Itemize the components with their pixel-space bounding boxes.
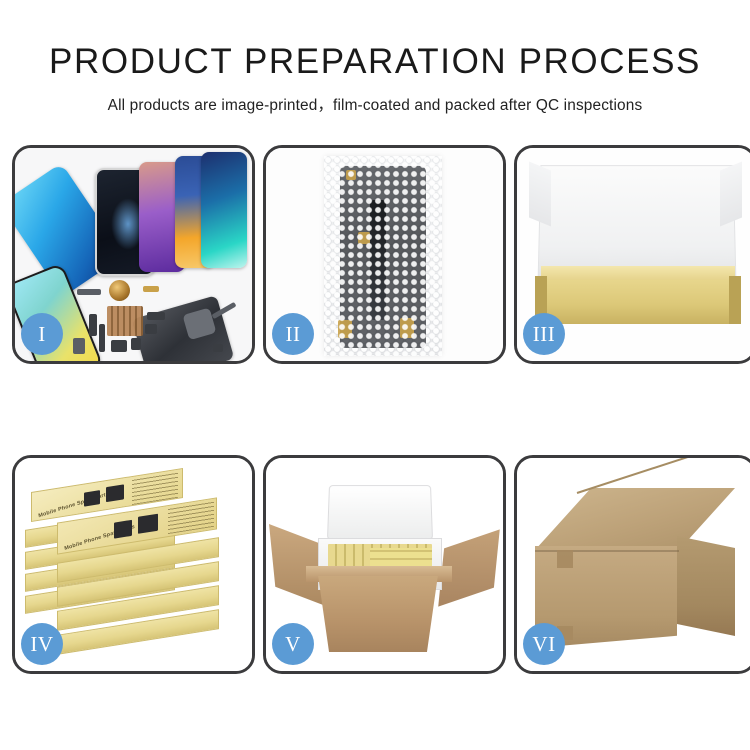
gold-contact-icon [346,170,356,180]
step-panel-6: VI [514,455,750,674]
gold-contact-icon [400,318,414,338]
sealed-carton-top [535,488,735,550]
spare-part-icon [77,289,101,295]
page-title: PRODUCT PREPARATION PROCESS [0,44,750,81]
step-badge-6: VI [523,623,565,665]
step-badge-4: IV [21,623,63,665]
foam-lid-icon [327,485,433,540]
step-badge-1: I [21,313,63,355]
spare-part-icon [111,340,127,352]
carton-lid-flap-right [720,162,742,227]
step-panel-4: Mobile Phone Spare Parts Mobile Phone Sp… [12,455,255,674]
sealed-carton-side [677,536,735,636]
spare-part-icon [213,344,223,352]
flex-cable-icon [370,200,386,320]
spare-part-icon [131,338,141,350]
box-spec-lines [132,472,178,505]
gold-contact-icon [358,232,370,244]
phone-screen-teal-icon [201,152,247,268]
box-chip-graphic [138,514,158,534]
carton-lid-flap-left [529,162,551,227]
box-chip-graphic [84,490,100,507]
spare-part-icon [145,324,157,334]
spare-part-icon [147,312,165,320]
spare-part-icon [89,314,97,336]
step-badge-5: V [272,623,314,665]
step-badge-2: II [272,313,314,355]
product-preparation-process-page: PRODUCT PREPARATION PROCESS All products… [0,0,750,750]
step-badge-3: III [523,313,565,355]
page-header: PRODUCT PREPARATION PROCESS All products… [0,0,750,115]
box-chip-graphic [106,484,124,502]
step-panel-5: V [263,455,506,674]
chip-grid-icon [107,306,143,336]
spare-part-icon [73,338,85,354]
spare-part-icon [99,324,105,352]
step-panel-3: III [514,145,750,364]
box-spec-lines [168,501,214,534]
gold-contact-icon [338,320,352,338]
carton-lid-icon [538,165,737,282]
carton-front [310,576,446,652]
carton-tape-icon [557,550,573,568]
page-subtitle: All products are image-printed，film-coat… [0,93,750,115]
spare-part-icon [143,286,159,292]
step-panel-2: II [263,145,506,364]
step-panel-1: I [12,145,255,364]
box-chip-graphic [114,520,132,539]
speaker-coil-icon [109,280,130,301]
process-steps-grid: I II [12,145,738,675]
carton-tray-edge-right [729,276,741,324]
carton-tray-icon [535,276,741,324]
